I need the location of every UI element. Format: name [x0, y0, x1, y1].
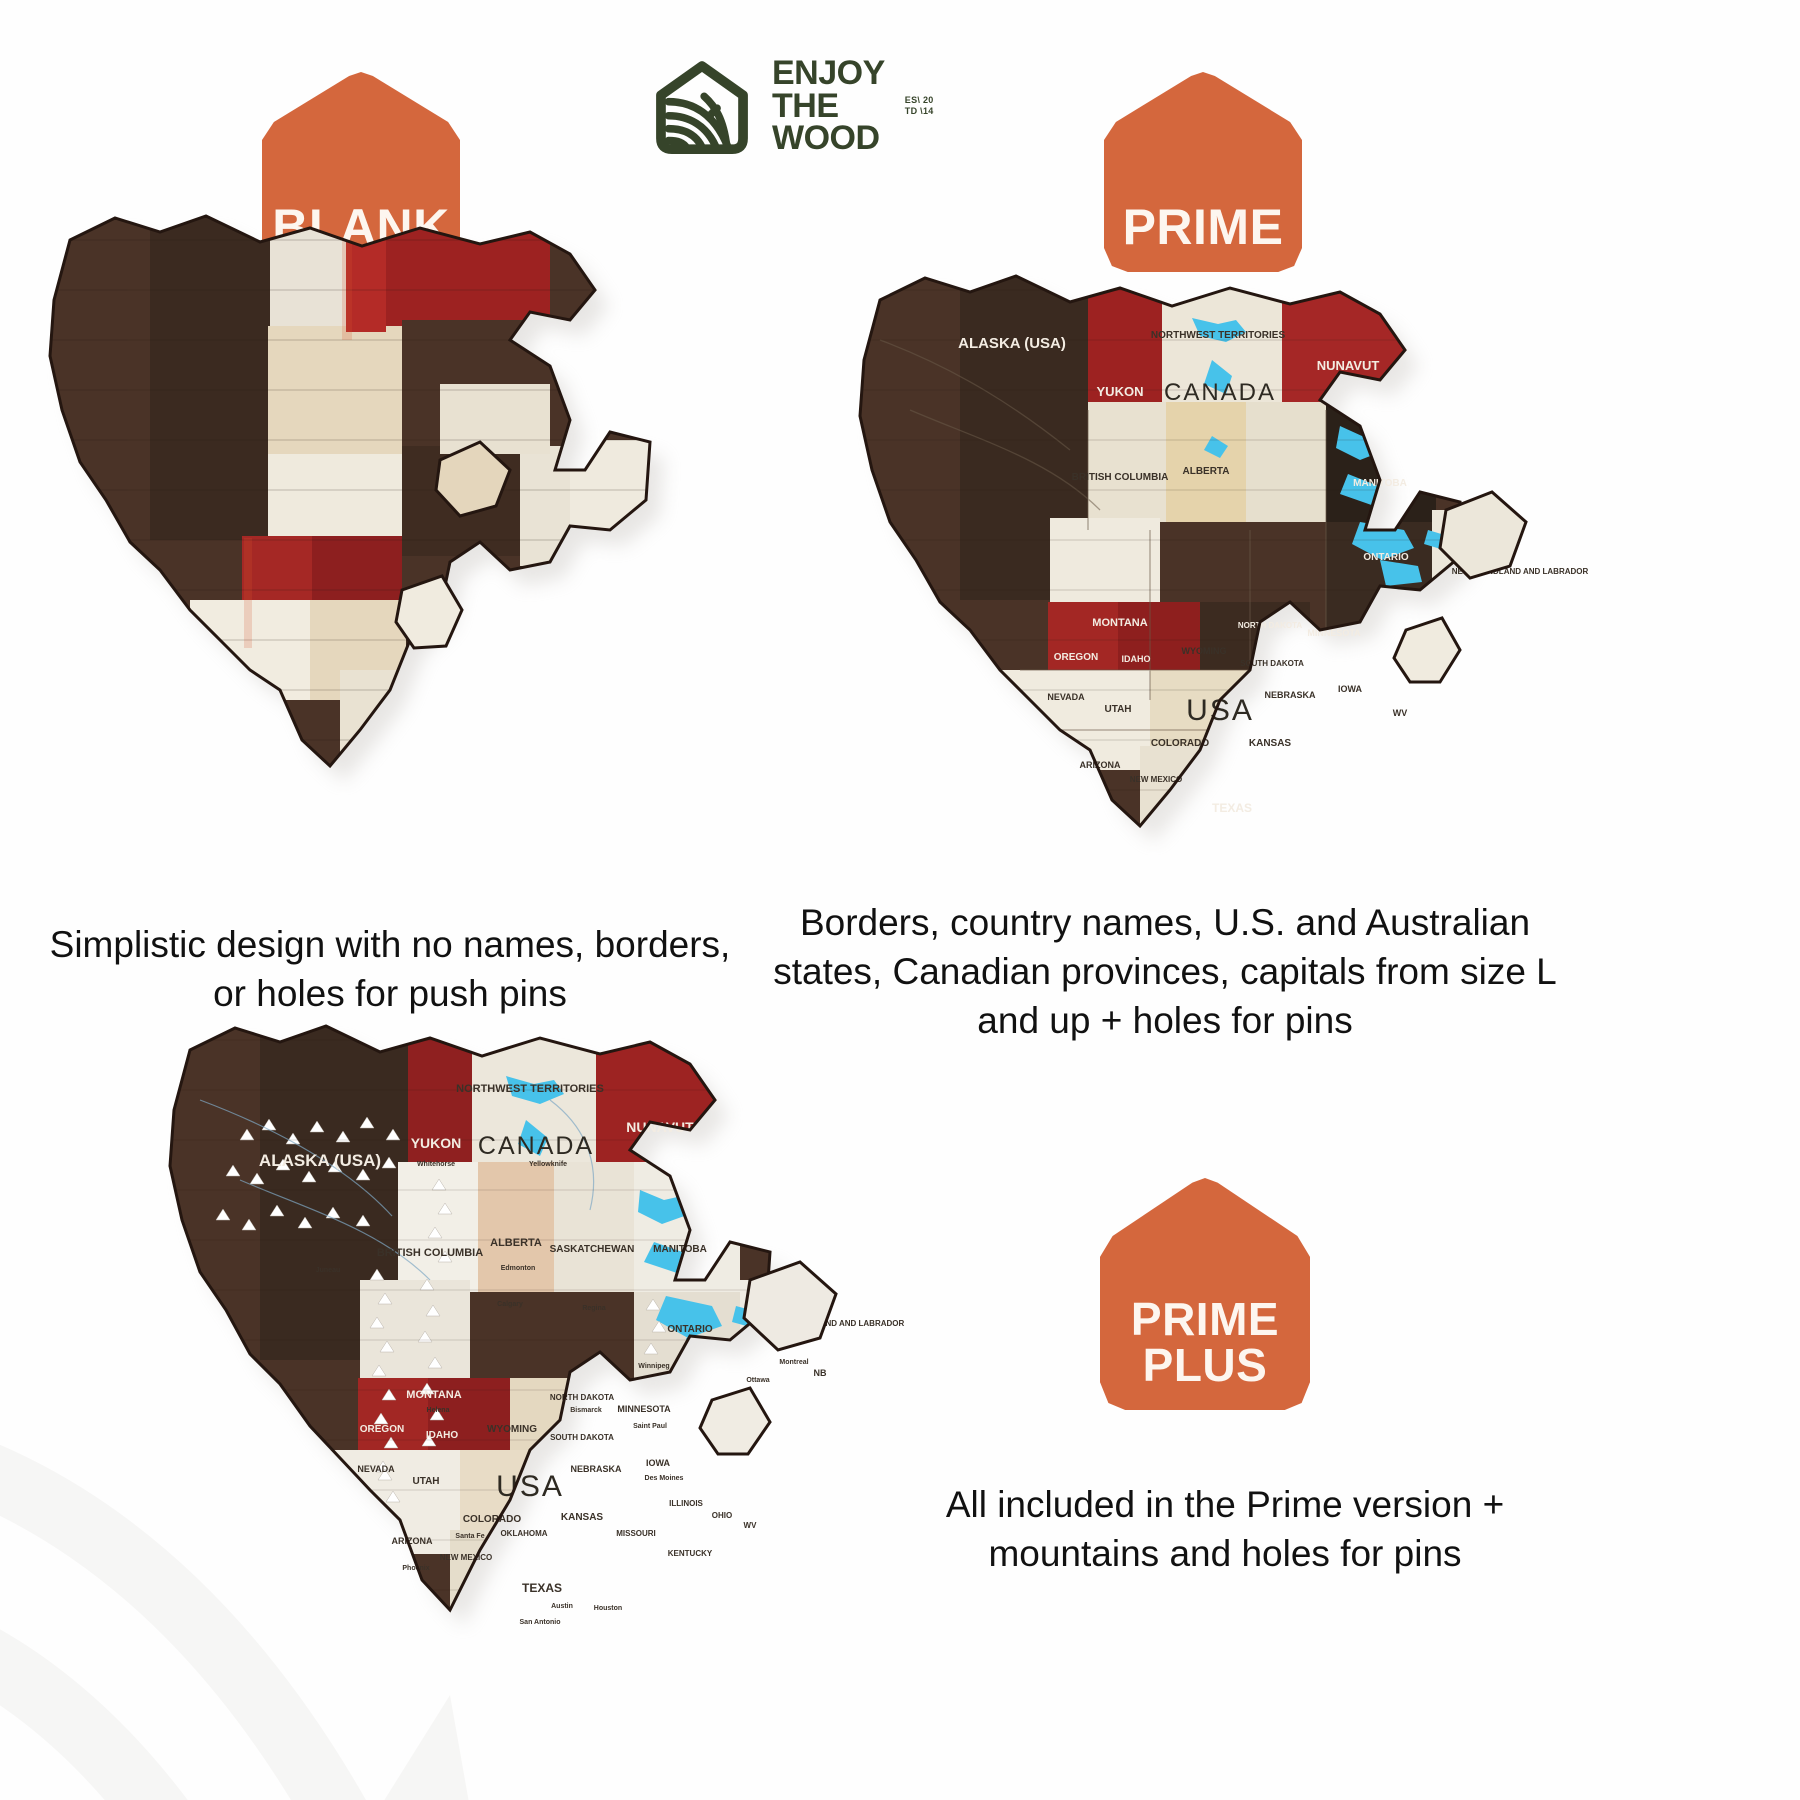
brand-wordmark: ENJOY THE WOOD	[772, 57, 885, 156]
label-illinois: ILLINOIS	[669, 1499, 703, 1508]
badge-prime-plus-label-1: PRIME	[1131, 1293, 1279, 1345]
label-des-moines: Des Moines	[645, 1475, 684, 1482]
brand-established-mark: ES\ 20 TD \14	[905, 95, 934, 116]
brand-logo: ENJOY THE WOOD ES\ 20 TD \14	[648, 52, 934, 160]
label-austin: Austin	[551, 1603, 573, 1610]
label-ohio: OHIO	[712, 1511, 732, 1520]
label-wv: WV	[744, 1521, 758, 1530]
map-blank-wooden-north-america	[10, 170, 710, 790]
label-ottawa: Ottawa	[746, 1377, 769, 1384]
label-minnesota: MINNESOTA	[617, 1404, 671, 1414]
map-prime-plus-wooden-north-america: ALASKA (USA) YUKON NORTHWEST TERRITORIES…	[130, 980, 870, 1640]
label-saint-paul: Saint Paul	[633, 1423, 667, 1430]
label-texas: TEXAS	[1212, 801, 1252, 815]
map-prime-plus-svg: ALASKA (USA) YUKON NORTHWEST TERRITORIES…	[130, 980, 870, 1640]
map-blank-svg	[10, 170, 710, 790]
label-houston: Houston	[594, 1605, 622, 1612]
label-iowa: IOWA	[1338, 684, 1362, 694]
label-kentucky: KENTUCKY	[668, 1549, 713, 1558]
brand-line-3: WOOD	[772, 122, 885, 155]
caption-prime-plus: All included in the Prime version + moun…	[880, 1480, 1570, 1578]
map-prime-wooden-north-america: ALASKA (USA) YUKON NORTHWEST TERRITORIES…	[820, 230, 1560, 850]
map-blank-body	[10, 170, 710, 790]
badge-prime-plus-label-2: PLUS	[1131, 1342, 1279, 1388]
label-san-antonio: San Antonio	[520, 1619, 561, 1626]
badge-prime-plus-text: PRIME PLUS	[1131, 1296, 1279, 1388]
label-wv: WV	[1393, 708, 1408, 718]
product-feature-page: ENJOY THE WOOD ES\ 20 TD \14 BLANK PRIME…	[0, 0, 1800, 1800]
brand-line-1: ENJOY	[772, 57, 885, 90]
label-nebraska: NEBRASKA	[570, 1464, 622, 1474]
label-montreal: Montreal	[779, 1359, 808, 1366]
label-kansas: KANSAS	[561, 1512, 604, 1523]
label-texas: TEXAS	[522, 1581, 562, 1595]
badge-prime-plus: PRIME PLUS	[1100, 1178, 1310, 1410]
label-nb: NB	[814, 1368, 827, 1378]
house-wood-grain-logo-icon	[648, 52, 756, 160]
label-iowa: IOWA	[646, 1458, 670, 1468]
caption-blank: Simplistic design with no names, borders…	[40, 920, 740, 1018]
map-prime-svg: ALASKA (USA) YUKON NORTHWEST TERRITORIES…	[820, 230, 1560, 850]
label-missouri: MISSOURI	[616, 1529, 656, 1538]
caption-prime: Borders, country names, U.S. and Austral…	[770, 898, 1560, 1046]
brand-line-2: THE	[772, 90, 885, 123]
label-kansas: KANSAS	[1249, 738, 1292, 749]
label-nebraska: NEBRASKA	[1264, 690, 1316, 700]
